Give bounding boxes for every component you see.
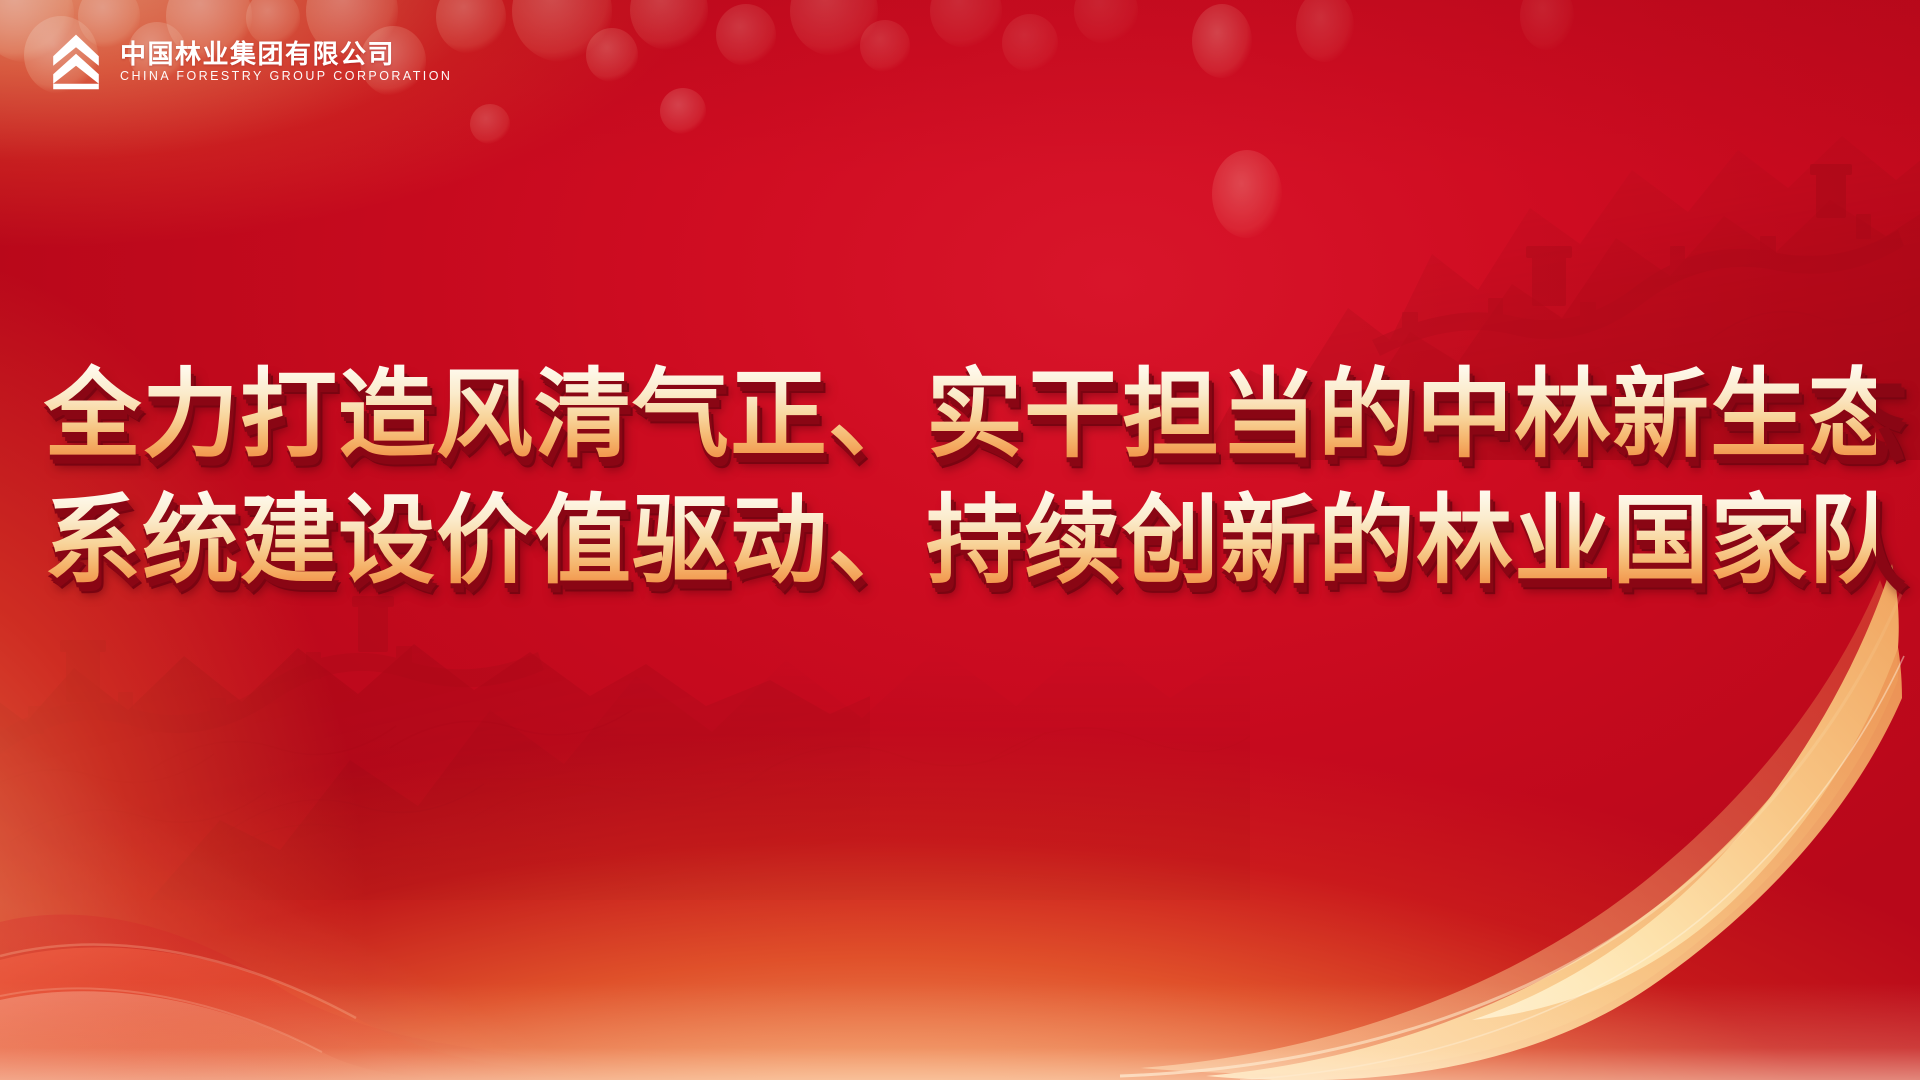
pagoda-tree-logo-icon	[46, 31, 106, 91]
brand-name-english: CHINA FORESTRY GROUP CORPORATION	[120, 70, 452, 83]
bokeh-circle	[1074, 0, 1138, 44]
bokeh-circle	[586, 28, 638, 82]
bokeh-circle	[630, 0, 708, 50]
bokeh-circle	[660, 88, 706, 134]
headline-line-2: 系统建设价值驱动、持续创新的林业国家队	[44, 478, 1876, 604]
bokeh-circle	[1212, 150, 1282, 238]
bokeh-circle	[512, 0, 612, 62]
bokeh-circle	[1192, 4, 1252, 78]
headline-line-1: 全力打造风清气正、实干担当的中林新生态	[44, 352, 1876, 478]
bokeh-circle	[1520, 0, 1574, 50]
banner-canvas: 中国林业集团有限公司 CHINA FORESTRY GROUP CORPORAT…	[0, 0, 1920, 1080]
bokeh-circle	[1002, 14, 1058, 72]
bokeh-circle	[1296, 0, 1354, 62]
bokeh-circle	[860, 20, 910, 72]
bokeh-circle	[716, 4, 776, 66]
headline-block: 全力打造风清气正、实干担当的中林新生态 系统建设价值驱动、持续创新的林业国家队	[0, 352, 1920, 604]
bokeh-circle	[930, 0, 1002, 48]
bokeh-circle	[470, 104, 510, 144]
bokeh-circle	[790, 0, 878, 56]
brand-logo-text: 中国林业集团有限公司 CHINA FORESTRY GROUP CORPORAT…	[120, 39, 452, 83]
brand-name-chinese: 中国林业集团有限公司	[120, 41, 452, 67]
brand-logo-block: 中国林业集团有限公司 CHINA FORESTRY GROUP CORPORAT…	[46, 31, 452, 91]
great-wall-watermark-bottom-left	[0, 560, 870, 980]
red-silk-fold-decoration	[0, 660, 720, 1080]
